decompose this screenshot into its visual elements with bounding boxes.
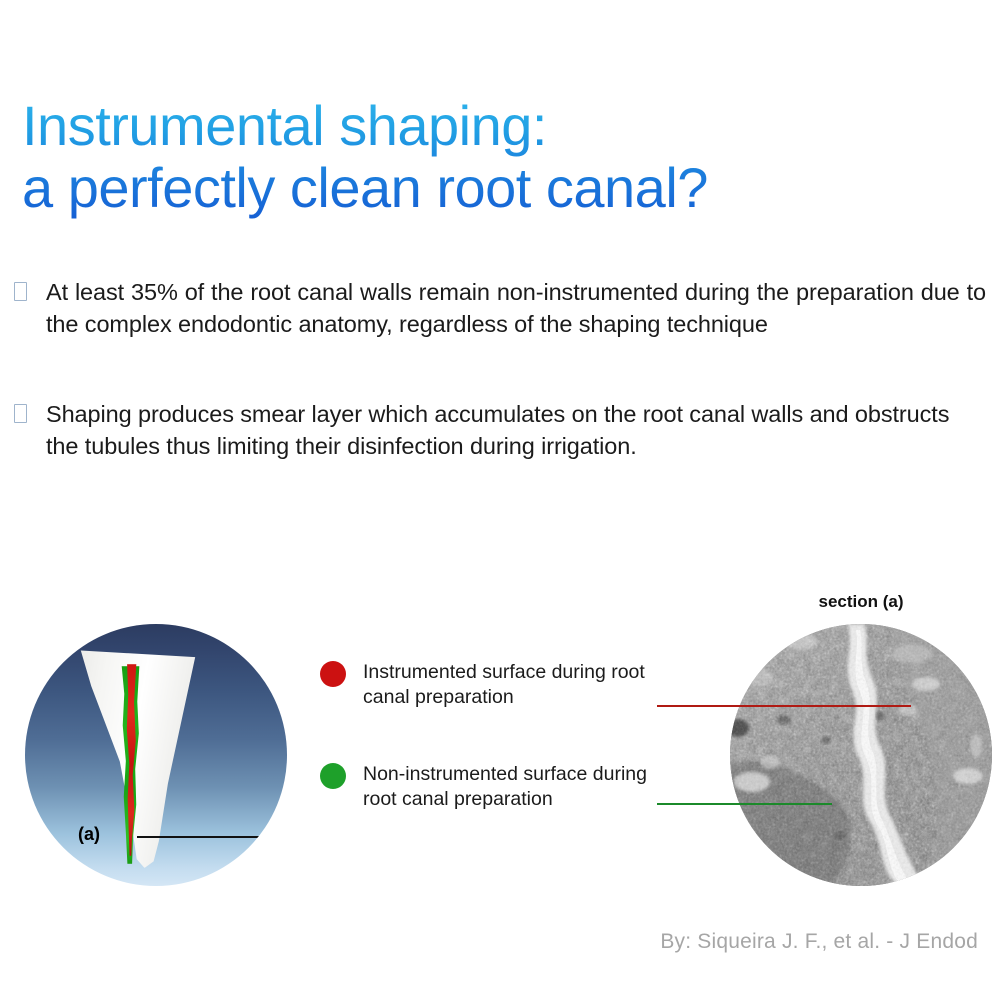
bullet-text: At least 35% of the root canal walls rem… <box>46 276 986 340</box>
sem-micrograph-figure <box>730 624 992 886</box>
sem-circle-image <box>730 624 992 886</box>
pointer-line-instrumented <box>657 705 911 707</box>
tooth-reconstruction-figure: (a) <box>25 624 287 886</box>
page-title: Instrumental shaping: a perfectly clean … <box>22 95 962 219</box>
legend: Instrumented surface during root canal p… <box>320 660 650 812</box>
legend-label: Non-instrumented surface during root can… <box>363 762 650 812</box>
attribution-text: By: Siqueira J. F., et al. - J Endod <box>0 930 978 954</box>
sem-section-heading: section (a) <box>730 592 992 612</box>
legend-label: Instrumented surface during root canal p… <box>363 660 650 710</box>
green-dot-icon <box>320 763 346 789</box>
bullet-box-icon <box>14 404 27 423</box>
section-a-label: (a) <box>78 824 100 845</box>
tooth-circle-background: (a) <box>25 624 287 886</box>
legend-item-instrumented: Instrumented surface during root canal p… <box>320 660 650 710</box>
section-indicator-line <box>137 836 269 838</box>
bullet-box-icon <box>14 282 27 301</box>
sem-texture-graphic <box>730 624 992 886</box>
legend-item-non-instrumented: Non-instrumented surface during root can… <box>320 762 650 812</box>
red-dot-icon <box>320 661 346 687</box>
pointer-line-non-instrumented <box>657 803 832 805</box>
bullet-text: Shaping produces smear layer which accum… <box>46 398 986 462</box>
bullet-item: At least 35% of the root canal walls rem… <box>14 276 986 340</box>
bullet-item: Shaping produces smear layer which accum… <box>14 398 986 462</box>
